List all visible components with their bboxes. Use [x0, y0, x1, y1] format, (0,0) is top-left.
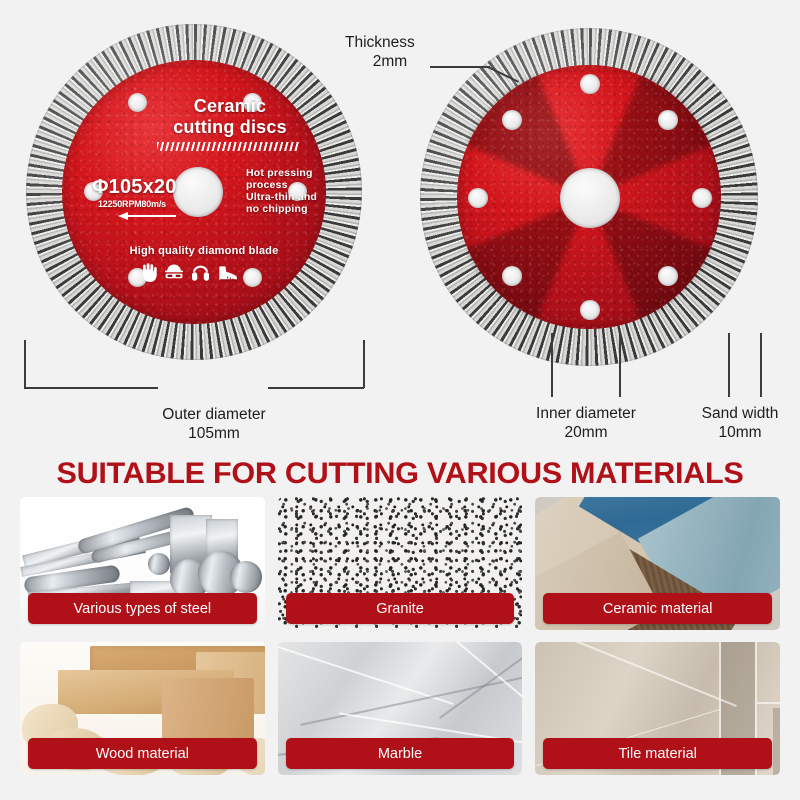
cooling-hole — [128, 93, 147, 112]
material-card-marble[interactable]: Marble — [278, 642, 523, 775]
cooling-hole — [658, 110, 678, 130]
leader-outer-right-v — [363, 340, 365, 388]
material-label-steel: Various types of steel — [28, 593, 257, 624]
disc-title-line2: cutting discs — [140, 117, 320, 137]
callout-sand-line2: 10mm — [687, 423, 793, 442]
disc-footer-text: High quality diamond blade — [118, 245, 290, 257]
leader-sand-left-v — [728, 333, 730, 397]
material-label-marble: Marble — [286, 738, 515, 769]
leader-outer-h — [24, 387, 158, 389]
arbor-hole-back — [560, 168, 620, 228]
page-title: SUITABLE FOR CUTTING VARIOUS MATERIALS — [0, 452, 800, 496]
material-card-steel[interactable]: Various types of steel — [20, 497, 265, 630]
ear-protection-icon — [191, 264, 210, 282]
leader-thickness-h — [430, 66, 490, 68]
diagram-section: Ceramic cutting discs Φ105x20 12250RPM80… — [0, 0, 800, 452]
helmet-goggles-icon — [164, 263, 184, 282]
cooling-hole — [243, 268, 262, 287]
leader-outer-h2 — [268, 387, 364, 389]
material-label-ceramic: Ceramic material — [543, 593, 772, 624]
rotation-arrow-tail — [128, 215, 176, 217]
disc-side-line2: process — [246, 179, 340, 192]
cooling-hole — [580, 74, 600, 94]
ppe-icon-row — [140, 263, 238, 282]
callout-thickness-line1: Thickness — [345, 33, 465, 52]
callout-inner-line2: 20mm — [523, 423, 649, 442]
cooling-hole — [468, 188, 488, 208]
callout-thickness-line2: 2mm — [345, 52, 435, 71]
safety-boot-icon — [217, 265, 238, 282]
cooling-hole — [580, 300, 600, 320]
material-label-tile: Tile material — [543, 738, 772, 769]
leader-inner-left-v — [551, 333, 553, 397]
rotation-arrow-head — [118, 212, 128, 220]
cooling-hole — [658, 266, 678, 286]
material-label-wood: Wood material — [28, 738, 257, 769]
disc-side-line4: no chipping — [246, 203, 340, 216]
leader-outer-left-v — [24, 340, 26, 388]
materials-grid: Various types of steel Granite Ceramic m… — [20, 497, 780, 775]
callout-outer-line2: 105mm — [148, 424, 280, 443]
material-card-granite[interactable]: Granite — [278, 497, 523, 630]
cooling-hole — [692, 188, 712, 208]
cooling-hole — [502, 110, 522, 130]
disc-title-line1: Ceramic — [150, 96, 310, 116]
disc-side-line3: Ultra-thin and — [246, 191, 346, 204]
leader-sand-right-v — [760, 333, 762, 397]
callout-inner-line1: Inner diameter — [523, 404, 649, 423]
material-card-wood[interactable]: Wood material — [20, 642, 265, 775]
callout-sand-line1: Sand width — [687, 404, 793, 423]
material-card-ceramic[interactable]: Ceramic material — [535, 497, 780, 630]
disc-spec-sub: 12250RPM80m/s — [98, 199, 218, 210]
glove-icon — [140, 263, 157, 282]
material-label-granite: Granite — [286, 593, 515, 624]
product-infographic: Ceramic cutting discs Φ105x20 12250RPM80… — [0, 0, 800, 800]
disc-spec-main: Φ105x20 — [92, 177, 212, 197]
callout-outer-line1: Outer diameter — [148, 405, 280, 424]
disc-side-line1: Hot pressing — [246, 167, 340, 180]
material-card-tile[interactable]: Tile material — [535, 642, 780, 775]
leader-inner-right-v — [619, 333, 621, 397]
cooling-hole — [502, 266, 522, 286]
hatch-decoration — [157, 142, 299, 151]
